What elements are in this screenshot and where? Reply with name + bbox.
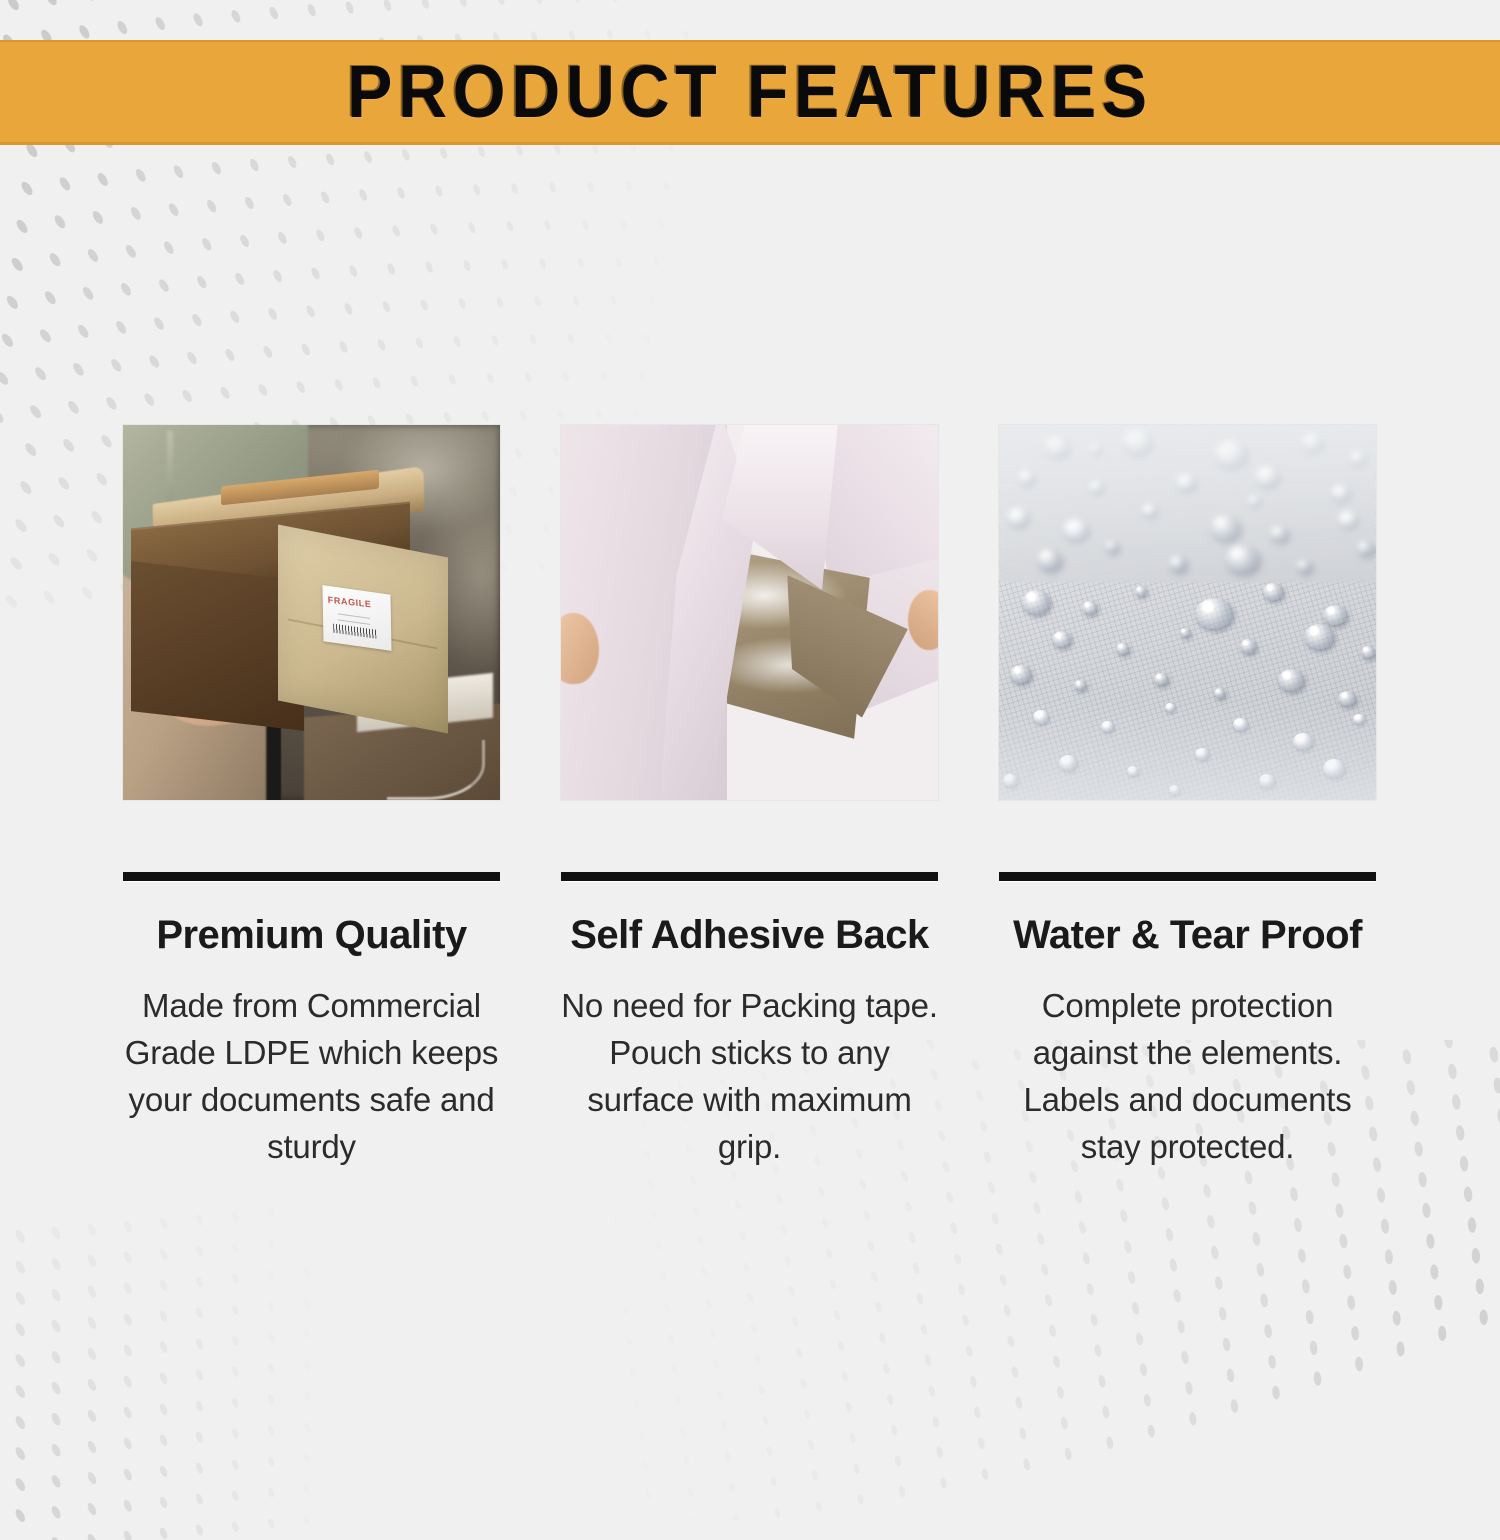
feature-heading: Self Adhesive Back [561, 913, 938, 957]
feature-image-water-tear-proof [999, 425, 1376, 800]
fragile-label-text: FRAGILE [328, 595, 372, 610]
feature-divider-rule [561, 872, 938, 881]
feature-body-text: No need for Packing tape. Pouch sticks t… [561, 983, 938, 1170]
feature-image-self-adhesive-back [561, 425, 938, 800]
decorative-dot-pattern-bottom-left [0, 1210, 370, 1540]
feature-body-text: Complete protection against the elements… [999, 983, 1376, 1170]
barcode-icon [332, 624, 376, 639]
feature-body-text: Made from Commercial Grade LDPE which ke… [123, 983, 500, 1170]
feature-heading: Premium Quality [123, 913, 500, 957]
feature-divider-rule [123, 872, 500, 881]
feature-image-premium-quality: FRAGILE [123, 425, 500, 800]
fragile-label: FRAGILE [322, 585, 391, 651]
feature-divider-rule [999, 872, 1376, 881]
feature-column-water-tear-proof: Water & Tear Proof Complete protection a… [999, 425, 1376, 1170]
feature-columns: FRAGILE Premium Quality Made from Commer… [123, 425, 1376, 1170]
header-banner: PRODUCT FEATURES [0, 40, 1500, 145]
page-title: PRODUCT FEATURES [347, 55, 1153, 129]
feature-heading: Water & Tear Proof [999, 913, 1376, 957]
feature-column-self-adhesive-back: Self Adhesive Back No need for Packing t… [561, 425, 938, 1170]
feature-column-premium-quality: FRAGILE Premium Quality Made from Commer… [123, 425, 500, 1170]
